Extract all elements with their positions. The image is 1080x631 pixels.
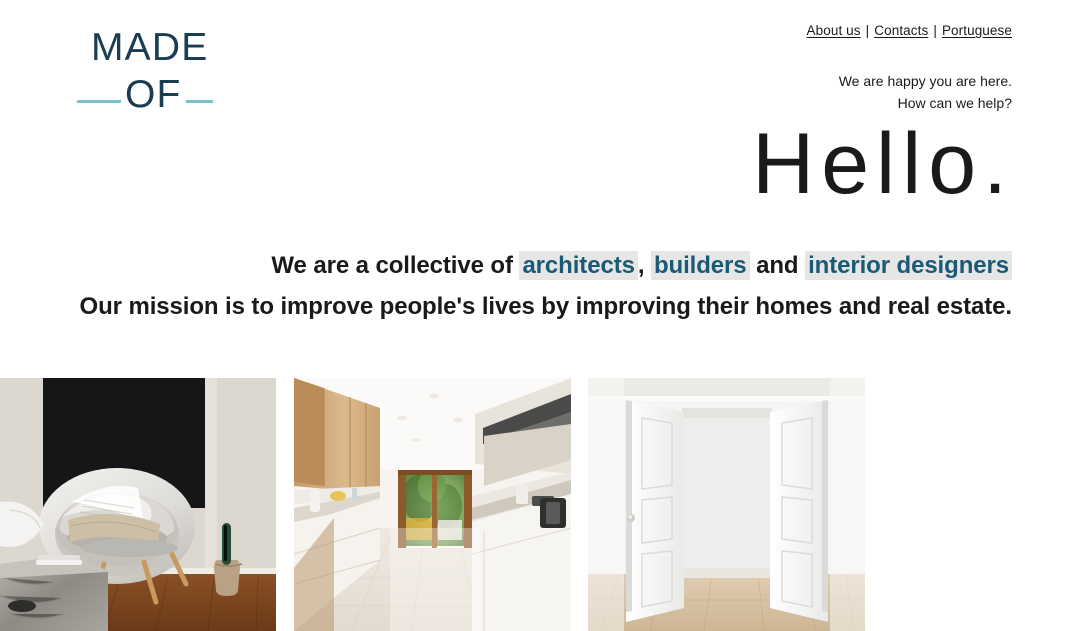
statement-line-1-prefix: We are a collective of <box>271 252 519 279</box>
kitchen-illustration <box>294 378 571 631</box>
keyword-builders: builders <box>651 251 750 280</box>
nav-link-portuguese[interactable]: Portuguese <box>942 23 1012 38</box>
site-logo[interactable]: MADE OF <box>77 28 257 118</box>
living-room-illustration <box>0 378 276 631</box>
logo-of-row: OF <box>77 75 257 121</box>
nav-separator-2: | <box>928 23 942 38</box>
coffee-table <box>0 554 108 631</box>
statement-line-2: Our mission is to improve people's lives… <box>80 286 1012 327</box>
left-door <box>626 400 684 622</box>
keyword-architects: architects <box>519 251 637 280</box>
logo-text-of: OF <box>121 75 186 114</box>
help-text-block: We are happy you are here. How can we he… <box>839 70 1012 114</box>
statement-comma: , <box>638 252 651 279</box>
statement-and: and <box>750 252 806 279</box>
top-navigation: About us|Contacts|Portuguese <box>807 23 1012 38</box>
gallery-row <box>0 378 1080 631</box>
nav-separator-1: | <box>861 23 875 38</box>
statement-line-1: We are a collective of architects, build… <box>80 245 1012 286</box>
nav-link-about-us[interactable]: About us <box>807 23 861 38</box>
gallery-image-modern-galley-kitchen[interactable] <box>294 378 571 631</box>
logo-text-made: MADE <box>77 28 257 67</box>
right-counter <box>472 378 571 631</box>
nav-link-contacts[interactable]: Contacts <box>874 23 928 38</box>
statement-block: We are a collective of architects, build… <box>80 245 1012 327</box>
gallery-image-white-double-doors[interactable] <box>588 378 865 631</box>
keyword-interior-designers: interior designers <box>805 251 1012 280</box>
landing-page: MADE OF About us|Contacts|Portuguese We … <box>0 0 1080 631</box>
right-door <box>770 400 828 622</box>
gallery-image-living-room-egg-chair[interactable] <box>0 378 276 631</box>
hero-heading: Hello. <box>752 119 1014 209</box>
double-doors-illustration <box>588 378 865 631</box>
help-text-line-2: How can we help? <box>839 92 1012 114</box>
help-text-line-1: We are happy you are here. <box>839 70 1012 92</box>
